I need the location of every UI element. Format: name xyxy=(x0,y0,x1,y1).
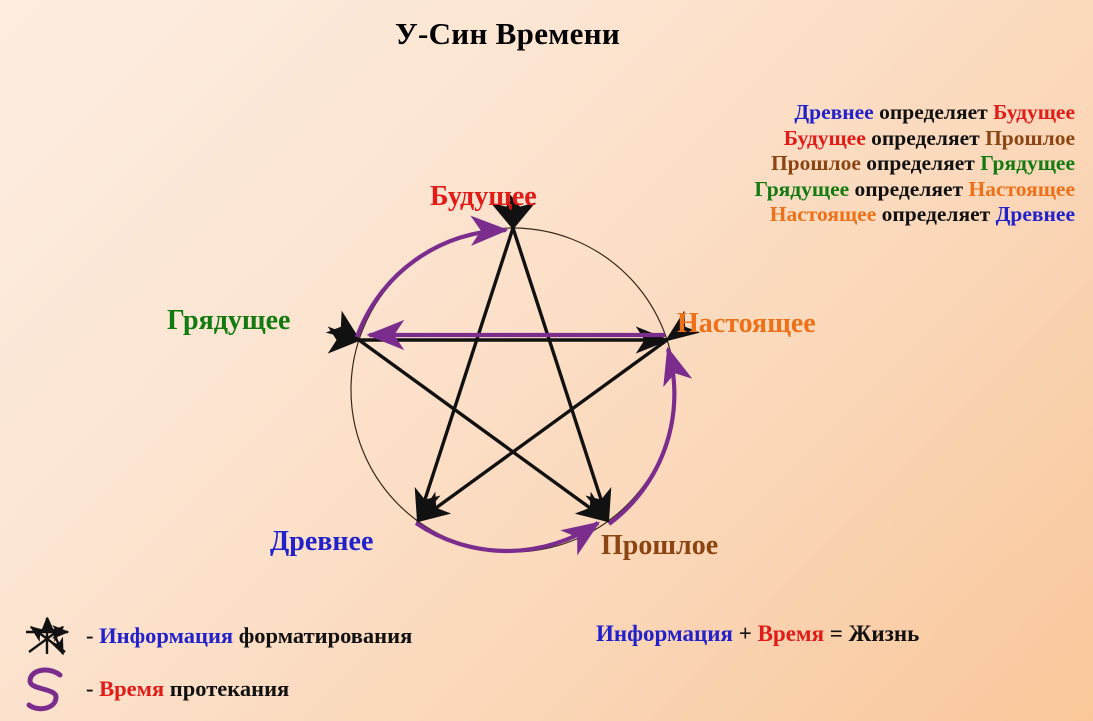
arrow-right-to-bottomleft xyxy=(418,340,667,521)
rule-from: Прошлое xyxy=(771,151,861,175)
rule-to: Будущее xyxy=(993,100,1075,124)
rule-from: Будущее xyxy=(784,126,866,150)
legend-text-information: - Информация форматирования xyxy=(86,623,412,649)
pentagram-arrows-icon xyxy=(18,610,76,662)
rule-verb: определяет xyxy=(855,177,964,201)
formula-term-time: Время xyxy=(758,621,824,646)
node-label-gryaduschee: Грядущее xyxy=(167,305,290,337)
outer-circle xyxy=(351,228,675,552)
rules-list: Древнее определяет Будущее Будущее опред… xyxy=(665,100,1075,228)
node-label-nastoyaschee: Настоящее xyxy=(677,308,816,340)
pentagram-arrows xyxy=(359,228,667,521)
node-label-proshloe: Прошлое xyxy=(601,530,718,562)
rule-from: Настоящее xyxy=(770,202,877,226)
formula-plus: + xyxy=(739,621,752,646)
rule-line: Грядущее определяет Настоящее xyxy=(665,177,1075,203)
formula: Информация + Время = Жизнь xyxy=(596,621,919,647)
rule-from: Грядущее xyxy=(754,177,849,201)
purple-arc-gryaduschee-to-buduschee xyxy=(357,230,506,337)
rule-to: Настоящее xyxy=(968,177,1075,201)
arrow-top-to-bottomright xyxy=(513,228,608,521)
legend-accent: Время xyxy=(99,676,164,701)
page-title: У-Син Времени xyxy=(0,16,1015,52)
legend: - Информация форматирования - Время прот… xyxy=(0,600,560,721)
rule-to: Древнее xyxy=(996,202,1075,226)
rule-line: Прошлое определяет Грядущее xyxy=(665,151,1075,177)
node-label-drevnee: Древнее xyxy=(270,526,373,558)
legend-rest: форматирования xyxy=(239,623,413,648)
formula-result-life: Жизнь xyxy=(849,621,920,646)
rule-line: Будущее определяет Прошлое xyxy=(665,126,1075,152)
node-label-buduschee: Будущее xyxy=(430,181,537,213)
formula-term-information: Информация xyxy=(596,621,733,646)
legend-rest: протекания xyxy=(170,676,289,701)
rule-to: Прошлое xyxy=(985,126,1075,150)
rule-from: Древнее xyxy=(794,100,873,124)
formula-equals: = xyxy=(830,621,843,646)
s-curve-icon xyxy=(18,663,76,715)
legend-dash: - xyxy=(86,623,94,648)
rule-verb: определяет xyxy=(882,202,991,226)
legend-text-time: - Время протекания xyxy=(86,676,289,702)
arrow-top-to-bottomleft xyxy=(418,228,513,521)
rule-verb: определяет xyxy=(871,126,980,150)
rule-verb: определяет xyxy=(879,100,988,124)
rule-line: Настоящее определяет Древнее xyxy=(665,202,1075,228)
legend-dash: - xyxy=(86,676,94,701)
arrow-left-to-bottomright xyxy=(359,340,608,521)
purple-arc-drevnee-to-proshloe xyxy=(416,523,598,551)
rule-verb: определяет xyxy=(866,151,975,175)
rule-to: Грядущее xyxy=(980,151,1075,175)
diagram-canvas: У-Син Времени xyxy=(0,0,1093,721)
legend-accent: Информация xyxy=(99,623,233,648)
legend-row-time: - Время протекания xyxy=(18,663,289,715)
purple-arc-proshloe-to-nastoyaschee xyxy=(609,349,674,524)
rule-line: Древнее определяет Будущее xyxy=(665,100,1075,126)
legend-row-information: - Информация форматирования xyxy=(18,610,412,662)
